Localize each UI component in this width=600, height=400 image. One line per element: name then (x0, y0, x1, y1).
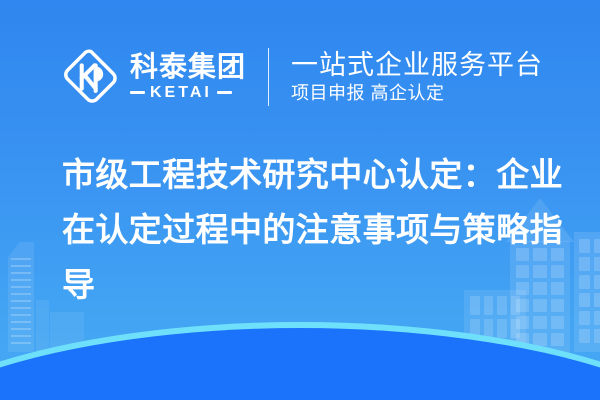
window-stripes (11, 258, 31, 346)
banner-header: 科泰集团 KETAI 一站式企业服务平台 项目申报 高企认定 (0, 42, 600, 112)
header-divider (268, 48, 269, 106)
slim-building-silhouette-icon (574, 232, 600, 352)
promo-banner: 科泰集团 KETAI 一站式企业服务平台 项目申报 高企认定 市级工程技术研究中… (0, 0, 600, 400)
brand-name-cn: 科泰集团 (130, 53, 246, 82)
page-title: 市级工程技术研究中心认定：企业在认定过程中的注意事项与策略指导 (62, 148, 570, 312)
logo-dash-right-icon (217, 91, 232, 94)
brand-name-en: KETAI (150, 85, 212, 101)
tagline-block: 一站式企业服务平台 项目申报 高企认定 (291, 50, 543, 105)
brand-logo[interactable]: 科泰集团 KETAI (62, 48, 246, 106)
logo-dash-left-icon (130, 91, 145, 94)
window-grid (579, 239, 600, 343)
ketai-kp-diamond-logo-icon (62, 48, 120, 106)
building-silhouette-icon (36, 300, 49, 352)
tagline-main: 一站式企业服务平台 (291, 50, 543, 80)
brand-wordmark: 科泰集团 KETAI (130, 53, 246, 101)
brand-name-en-row: KETAI (130, 85, 246, 101)
skyscraper-silhouette-icon (8, 242, 34, 352)
tagline-sub: 项目申报 高企认定 (291, 83, 543, 105)
